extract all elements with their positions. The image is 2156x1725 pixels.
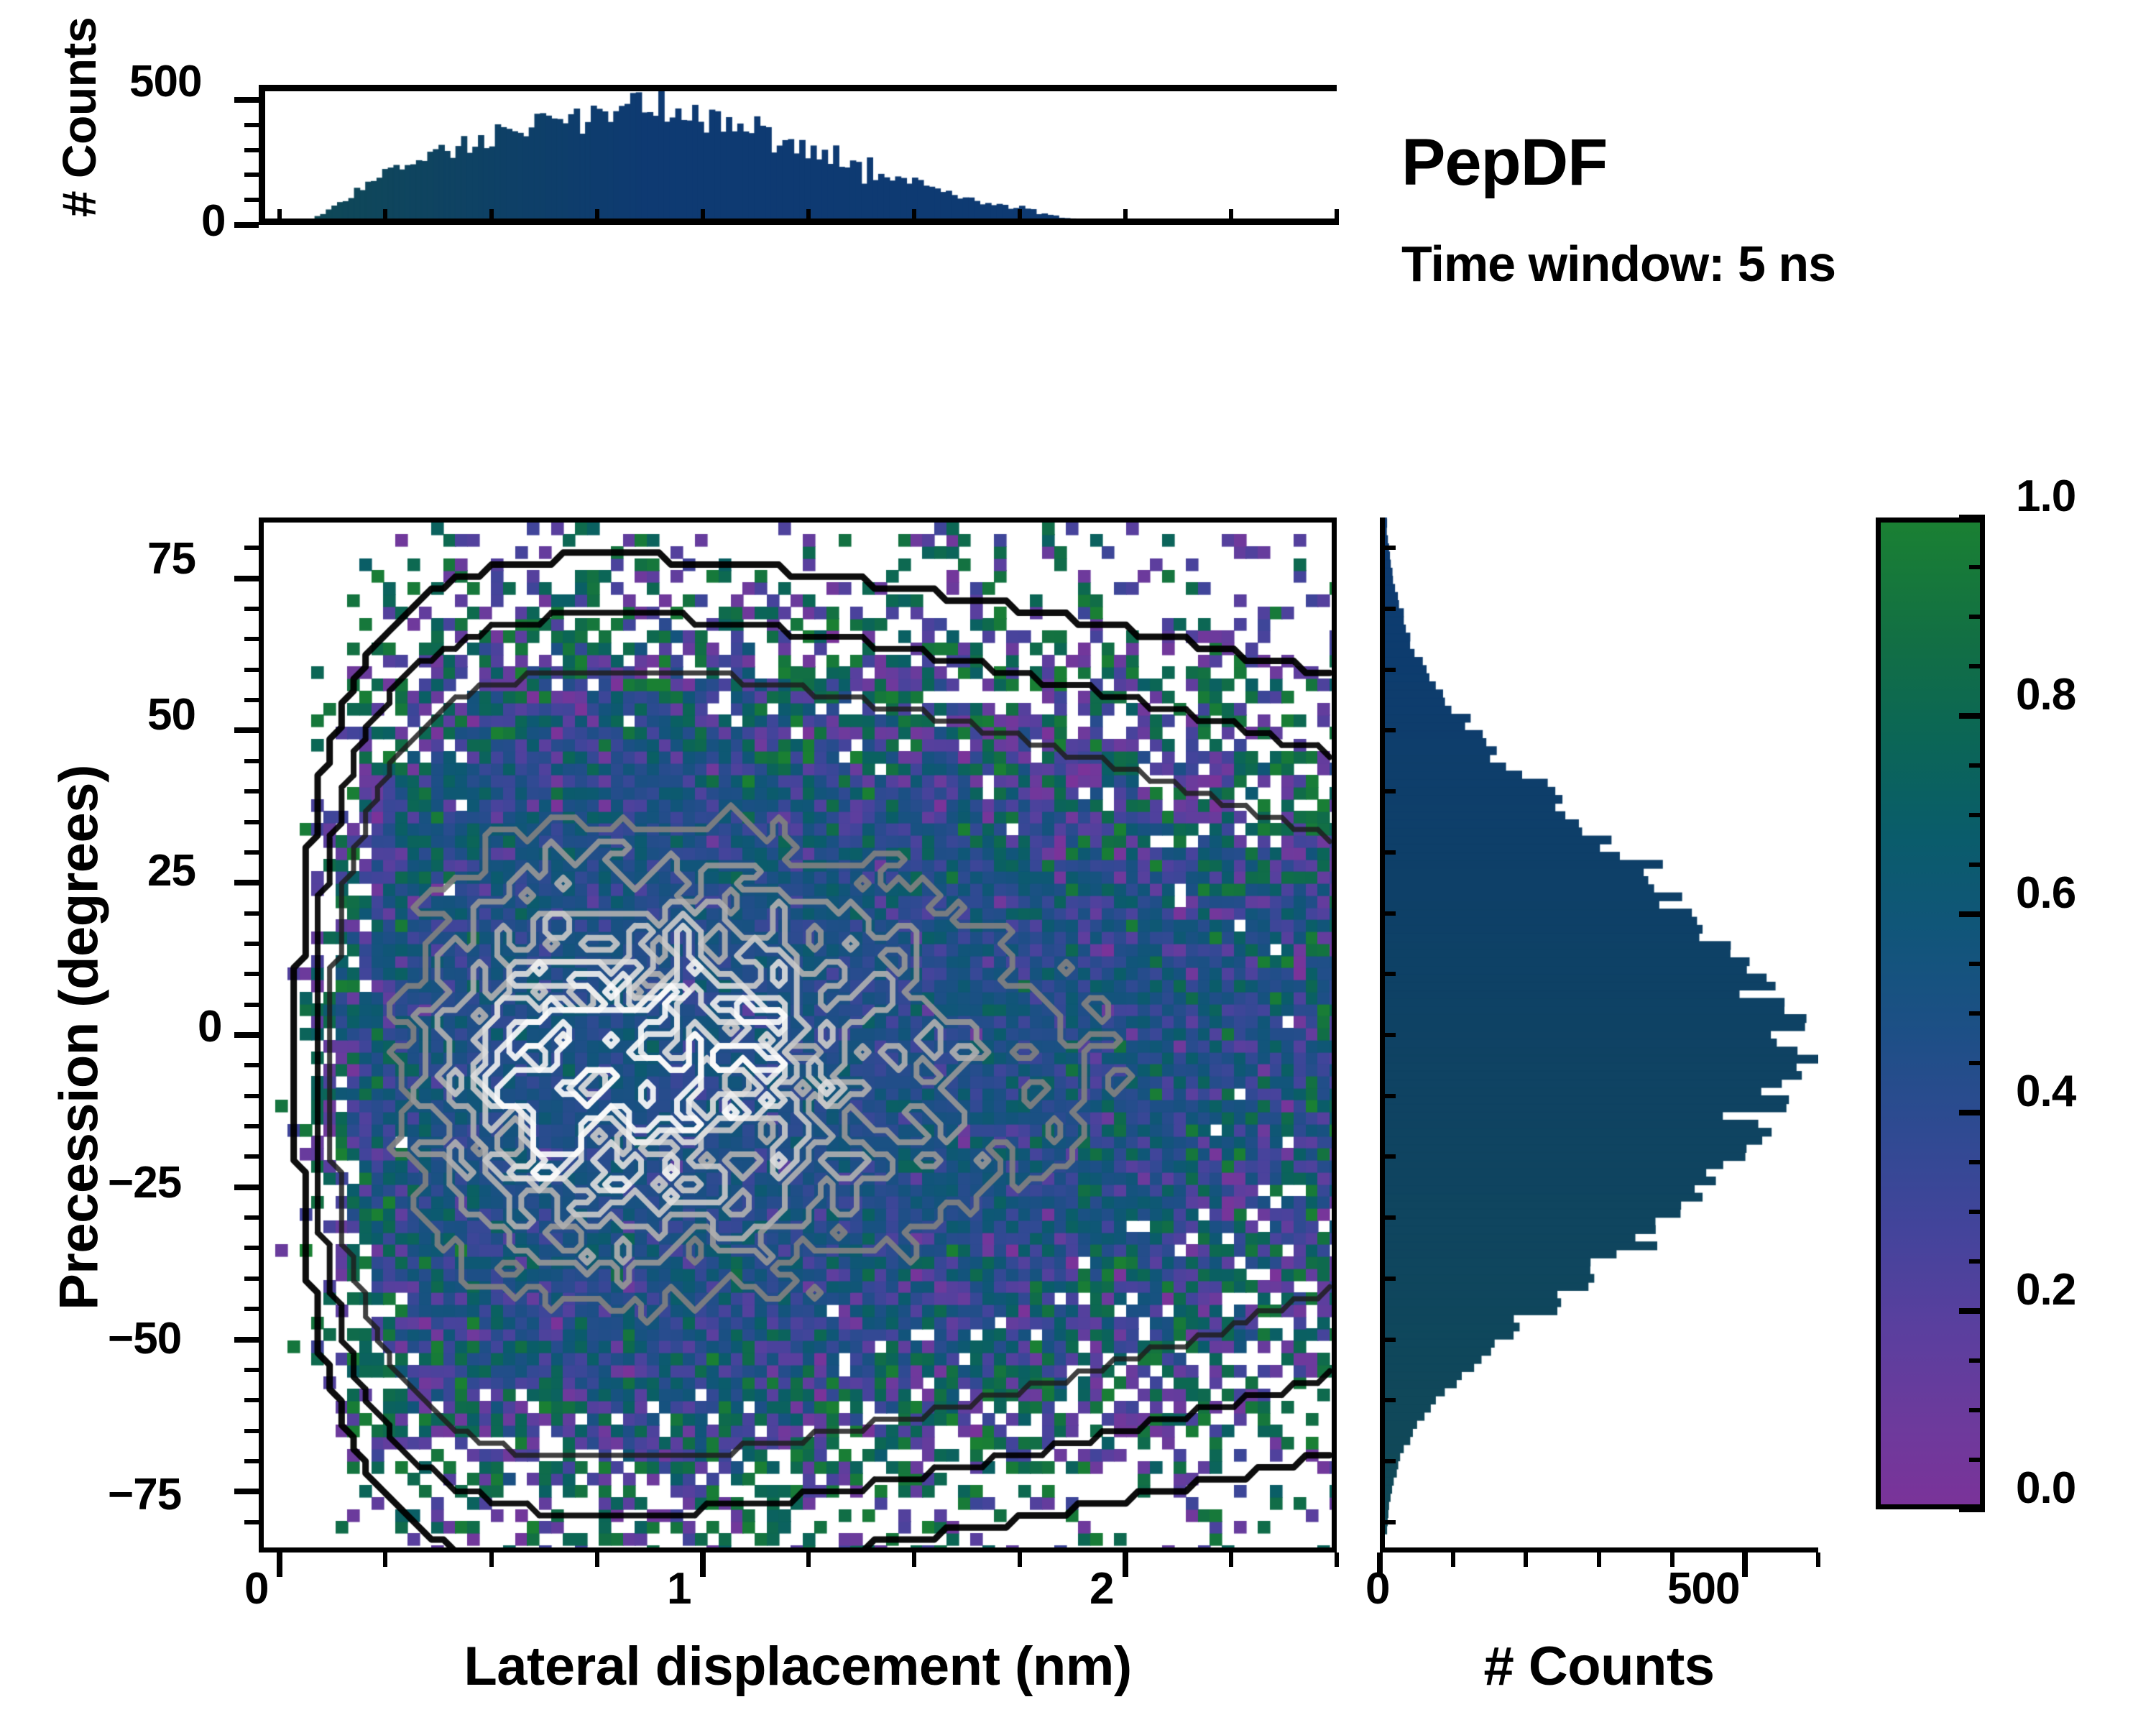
y-major-tick xyxy=(234,880,259,885)
y-minor-tick xyxy=(244,972,259,976)
right-hist-minor-tick xyxy=(1524,1552,1528,1567)
colorbar-minor-tick xyxy=(1969,1259,1985,1264)
x-minor-tick xyxy=(595,1552,599,1567)
right-hist-y-tick xyxy=(1380,1338,1396,1342)
y-major-tick xyxy=(234,1489,259,1494)
top-hist-x-tick xyxy=(1018,209,1022,225)
colorbar-minor-tick xyxy=(1969,1408,1985,1412)
y-minor-tick xyxy=(244,1246,259,1250)
y-minor-tick xyxy=(244,1520,259,1524)
y-major-tick xyxy=(234,1184,259,1190)
right-hist-y-tick xyxy=(1380,1276,1396,1281)
y-tick-50: 50 xyxy=(147,689,195,740)
y-tick-m75: −75 xyxy=(108,1469,181,1520)
y-minor-tick xyxy=(244,546,259,550)
colorbar-major-tick xyxy=(1959,713,1985,719)
right-histogram-canvas xyxy=(1385,517,1818,1552)
right-hist-y-tick xyxy=(1380,1459,1396,1463)
y-minor-tick xyxy=(244,820,259,824)
x-minor-tick xyxy=(912,1552,916,1567)
subtitle: Time window: 5 ns xyxy=(1401,235,2084,293)
y-major-tick xyxy=(234,1032,259,1038)
colorbar-tick-0.8: 0.8 xyxy=(2016,669,2076,720)
top-hist-x-tick xyxy=(806,209,811,225)
y-minor-tick xyxy=(244,1063,259,1067)
colorbar-tick-0.6: 0.6 xyxy=(2016,868,2076,919)
y-minor-tick xyxy=(244,637,259,641)
y-tick-75: 75 xyxy=(147,533,195,584)
y-minor-tick xyxy=(244,1276,259,1281)
top-hist-x-tick xyxy=(383,209,387,225)
y-minor-tick xyxy=(244,1368,259,1372)
x-axis-label: Lateral displacement (nm) xyxy=(259,1635,1337,1698)
top-hist-x-tick xyxy=(277,209,282,225)
right-hist-y-tick xyxy=(1380,1520,1396,1524)
colorbar-tick-0.4: 0.4 xyxy=(2016,1066,2076,1117)
top-marginal-histogram xyxy=(259,85,1337,225)
colorbar-major-tick xyxy=(1959,1110,1985,1115)
y-minor-tick xyxy=(244,789,259,793)
y-minor-tick xyxy=(244,759,259,763)
y-minor-tick xyxy=(244,850,259,855)
top-hist-minor-tick xyxy=(244,172,259,177)
y-major-tick xyxy=(234,727,259,733)
right-hist-tick-500: 500 xyxy=(1667,1563,1739,1614)
colorbar-minor-tick xyxy=(1969,565,1985,569)
colorbar-minor-tick xyxy=(1969,664,1985,668)
colorbar-minor-tick xyxy=(1969,1160,1985,1164)
y-tick-m25: −25 xyxy=(108,1157,181,1208)
colorbar-minor-tick xyxy=(1969,1210,1985,1214)
colorbar-tick-1.0: 1.0 xyxy=(2016,471,2076,522)
y-tick-0: 0 xyxy=(198,1001,221,1052)
y-minor-tick xyxy=(244,1124,259,1128)
right-hist-y-tick xyxy=(1380,1033,1396,1037)
right-hist-y-tick xyxy=(1380,850,1396,855)
right-hist-x-axis-label: # Counts xyxy=(1380,1635,1818,1698)
y-tick-m50: −50 xyxy=(108,1313,181,1364)
y-minor-tick xyxy=(244,698,259,702)
joint-heatmap-canvas xyxy=(264,523,1337,1552)
x-tick-2: 2 xyxy=(1089,1563,1113,1614)
right-hist-y-tick xyxy=(1380,1154,1396,1159)
right-hist-minor-tick xyxy=(1816,1552,1820,1567)
y-minor-tick xyxy=(244,1307,259,1311)
x-major-tick xyxy=(700,1552,706,1577)
y-minor-tick xyxy=(244,1398,259,1402)
x-minor-tick xyxy=(1018,1552,1022,1567)
colorbar-minor-tick xyxy=(1969,813,1985,817)
colorbar-major-tick xyxy=(1959,911,1985,917)
colorbar-major-tick xyxy=(1959,1308,1985,1314)
right-hist-minor-tick xyxy=(1670,1552,1674,1567)
top-hist-x-tick xyxy=(912,209,916,225)
title-block: PepDF Time window: 5 ns xyxy=(1401,129,2084,293)
top-hist-x-tick xyxy=(701,209,705,225)
page-title: PepDF xyxy=(1401,129,2084,195)
right-hist-y-tick xyxy=(1380,1215,1396,1220)
top-hist-major-tick xyxy=(234,222,259,228)
top-hist-x-tick xyxy=(595,209,599,225)
y-major-tick xyxy=(234,576,259,581)
top-hist-x-tick xyxy=(1229,209,1233,225)
y-axis-label: Precession (degrees) xyxy=(48,714,111,1361)
y-minor-tick xyxy=(244,607,259,611)
colorbar-minor-tick xyxy=(1969,962,1985,966)
top-hist-x-tick xyxy=(1123,209,1128,225)
x-minor-tick xyxy=(1335,1552,1339,1567)
x-minor-tick xyxy=(1229,1552,1233,1567)
top-hist-y-axis-label: # Counts xyxy=(52,0,106,261)
x-minor-tick xyxy=(383,1552,387,1567)
colorbar-tick-0.0: 0.0 xyxy=(2016,1463,2076,1514)
top-hist-minor-tick xyxy=(244,148,259,152)
right-hist-major-tick xyxy=(1377,1552,1383,1577)
top-hist-major-tick xyxy=(234,97,259,103)
x-tick-0: 0 xyxy=(244,1563,268,1614)
x-major-tick xyxy=(277,1552,282,1577)
y-minor-tick xyxy=(244,1429,259,1433)
right-marginal-histogram xyxy=(1380,517,1818,1552)
x-minor-tick xyxy=(489,1552,494,1567)
y-major-tick xyxy=(234,1337,259,1343)
right-hist-minor-tick xyxy=(1597,1552,1601,1567)
right-hist-y-tick xyxy=(1380,789,1396,793)
top-hist-minor-tick xyxy=(244,198,259,202)
colorbar-minor-tick xyxy=(1969,763,1985,768)
colorbar-tick-0.2: 0.2 xyxy=(2016,1264,2076,1315)
right-hist-minor-tick xyxy=(1451,1552,1455,1567)
y-tick-25: 25 xyxy=(147,845,195,896)
y-minor-tick xyxy=(244,1459,259,1463)
colorbar-major-tick xyxy=(1959,1506,1985,1512)
top-hist-tick-500: 500 xyxy=(129,56,201,107)
right-hist-y-tick xyxy=(1380,972,1396,976)
y-minor-tick xyxy=(244,1154,259,1159)
x-minor-tick xyxy=(806,1552,811,1567)
y-minor-tick xyxy=(244,668,259,672)
colorbar-gradient xyxy=(1881,523,1980,1504)
right-hist-y-tick xyxy=(1380,911,1396,916)
colorbar-minor-tick xyxy=(1969,1458,1985,1462)
right-hist-y-tick xyxy=(1380,728,1396,732)
figure-root: PepDF Time window: 5 ns 500 0 # Counts 7… xyxy=(0,0,2156,1725)
top-hist-x-tick xyxy=(1335,209,1339,225)
top-histogram-canvas xyxy=(265,91,1337,225)
y-minor-tick xyxy=(244,911,259,916)
colorbar-major-tick xyxy=(1959,515,1985,520)
x-tick-1: 1 xyxy=(667,1563,691,1614)
top-hist-minor-tick xyxy=(244,123,259,127)
right-hist-y-tick xyxy=(1380,607,1396,611)
colorbar-minor-tick xyxy=(1969,862,1985,867)
right-hist-y-tick xyxy=(1380,1094,1396,1098)
colorbar-minor-tick xyxy=(1969,1061,1985,1065)
y-minor-tick xyxy=(244,1094,259,1098)
right-hist-major-tick xyxy=(1742,1552,1748,1577)
y-minor-tick xyxy=(244,1003,259,1007)
main-joint-plot xyxy=(259,517,1337,1552)
right-hist-y-tick xyxy=(1380,1398,1396,1402)
y-minor-tick xyxy=(244,942,259,946)
top-hist-x-tick xyxy=(489,209,494,225)
top-hist-tick-0: 0 xyxy=(201,195,225,247)
colorbar-minor-tick xyxy=(1969,615,1985,619)
y-minor-tick xyxy=(244,1215,259,1220)
x-major-tick xyxy=(1123,1552,1128,1577)
colorbar-minor-tick xyxy=(1969,1011,1985,1016)
right-hist-y-tick xyxy=(1380,668,1396,672)
colorbar-minor-tick xyxy=(1969,1358,1985,1363)
right-hist-y-tick xyxy=(1380,546,1396,550)
